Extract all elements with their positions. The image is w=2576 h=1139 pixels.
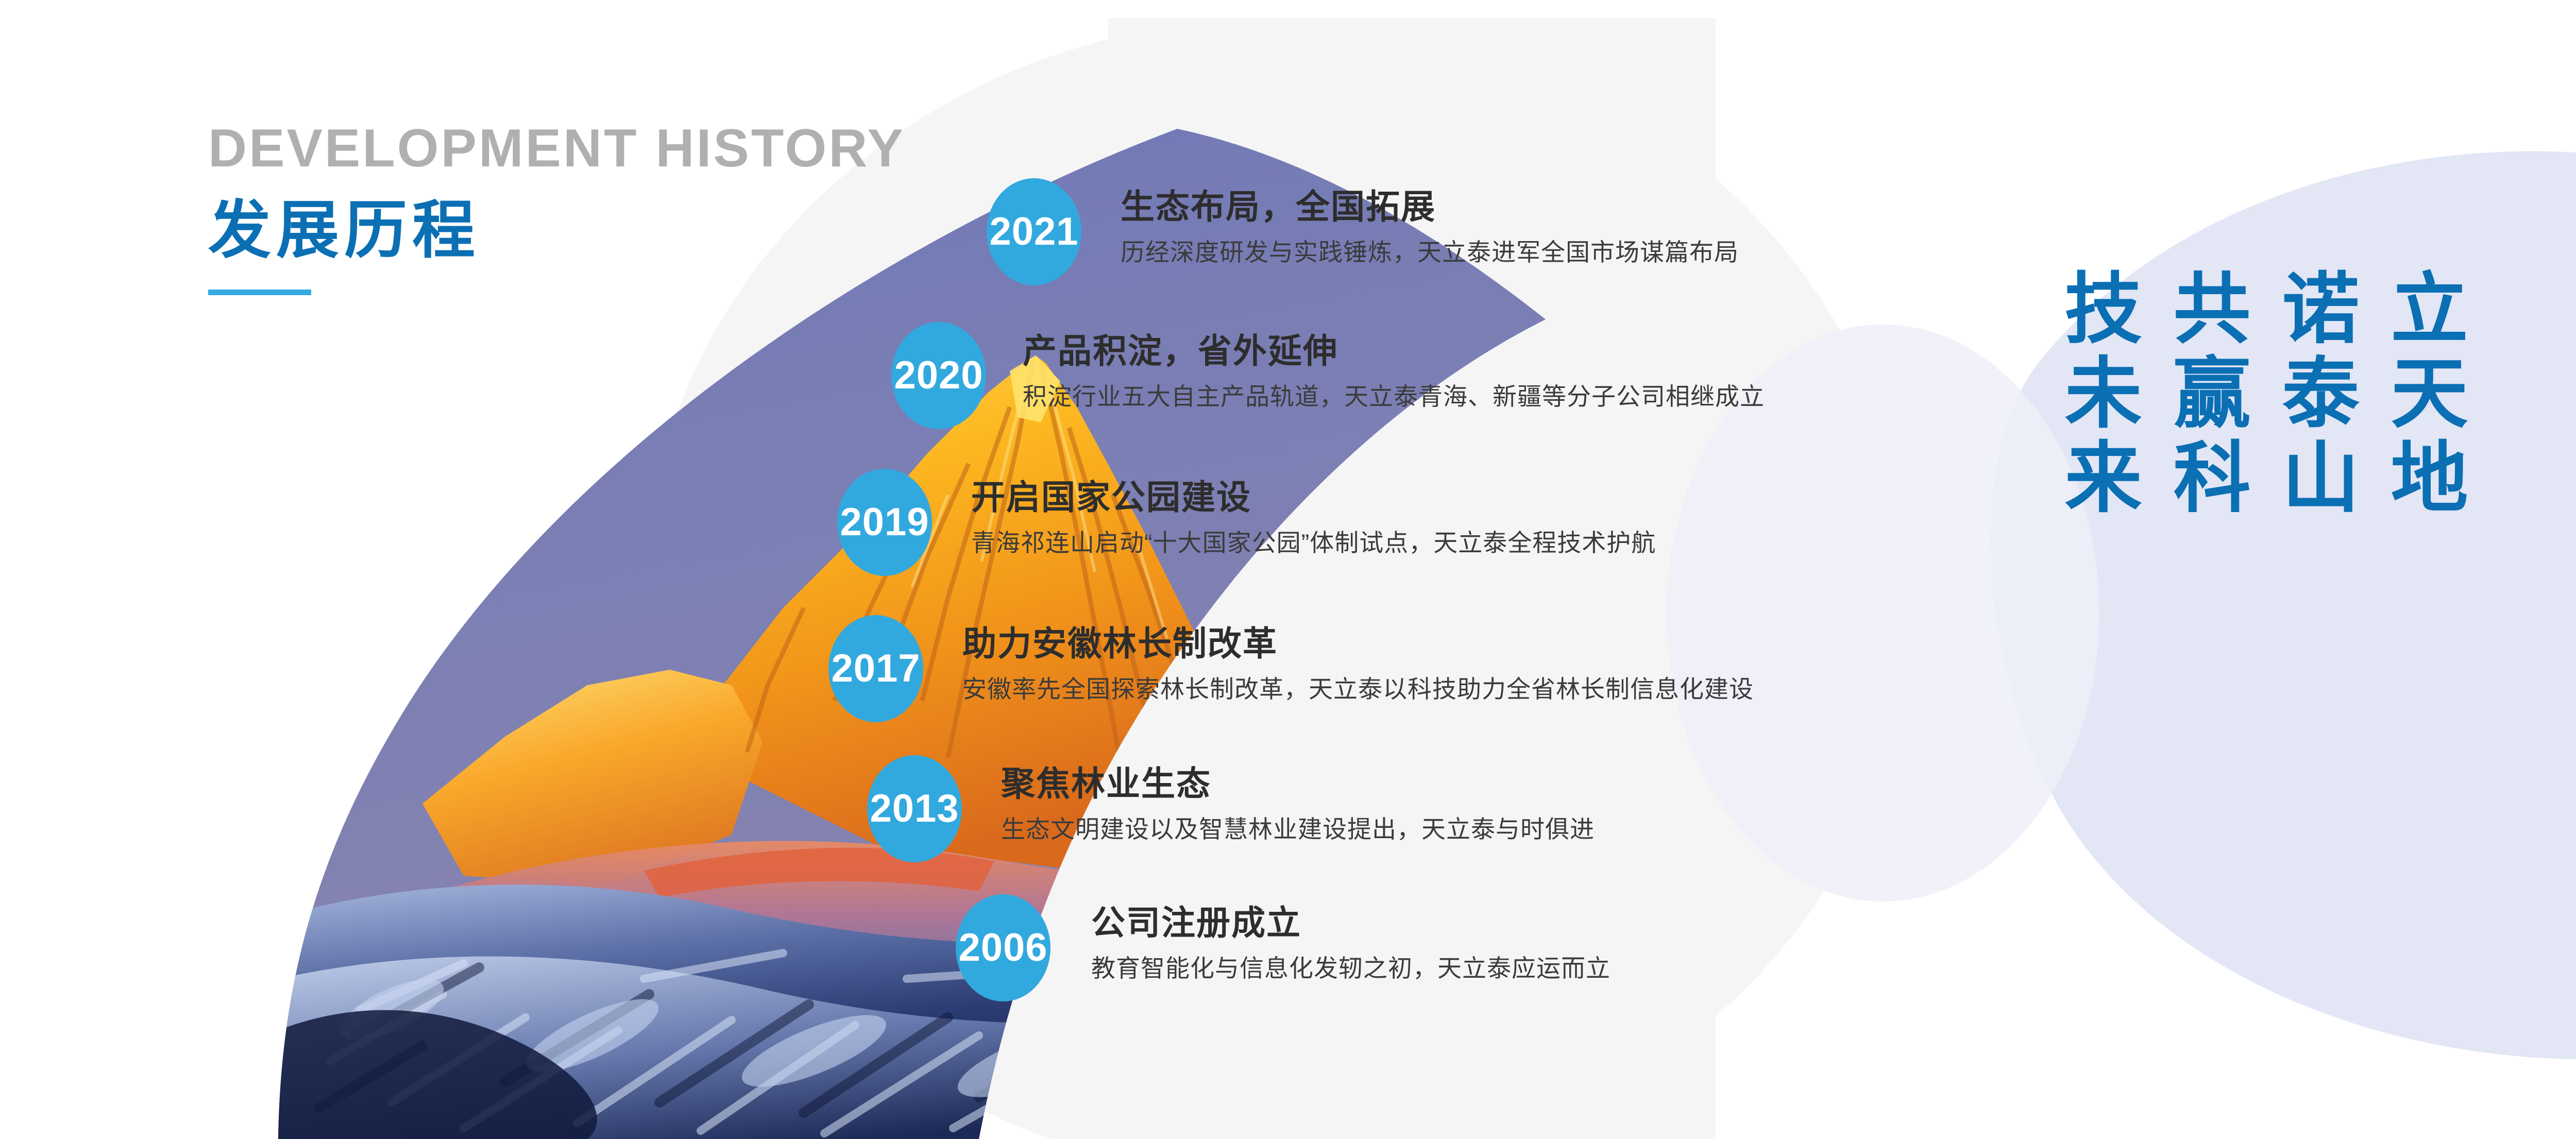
year-label: 2017 [831,649,920,688]
timeline-text-2006: 公司注册成立 教育智能化与信息化发轫之初，天立泰应运而立 [1091,906,1611,980]
slogan-column-3: 共赢科 [2164,268,2246,521]
year-badge-2006[interactable]: 2006 [956,894,1050,1001]
timeline-desc: 教育智能化与信息化发轫之初，天立泰应运而立 [1091,956,1611,980]
timeline-text-2019: 开启国家公园建设 青海祁连山启动“十大国家公园”体制试点，天立泰全程技术护航 [971,480,1656,555]
timeline-title: 公司注册成立 [1091,906,1611,940]
year-badge-2017[interactable]: 2017 [828,615,923,722]
year-label: 2020 [894,356,983,395]
timeline-title: 聚焦林业生态 [1001,767,1595,801]
timeline-title: 生态布局，全国拓展 [1121,190,1739,224]
year-label: 2006 [958,928,1047,967]
year-label: 2021 [989,212,1078,251]
timeline-desc: 积淀行业五大自主产品轨道，天立泰青海、新疆等分子公司相继成立 [1023,384,1765,409]
timeline-text-2017: 助力安徽林长制改革 安徽率先全国探索林长制改革，天立泰以科技助力全省林长制信息化… [962,626,1754,701]
year-label: 2013 [870,789,959,828]
timeline-desc: 历经深度研发与实践锤炼，天立泰进军全国市场谋篇布局 [1121,240,1739,264]
year-badge-2020[interactable]: 2020 [891,322,986,429]
slogan-column-1: 立天地 [2382,268,2464,521]
timeline-desc: 青海祁连山启动“十大国家公园”体制试点，天立泰全程技术护航 [971,531,1656,555]
timeline-title: 产品积淀，省外延伸 [1023,334,1765,368]
timeline-desc: 生态文明建设以及智慧林业建设提出，天立泰与时俱进 [1001,817,1595,841]
vertical-slogan: 立天地 诺泰山 共赢科 技未来 [2056,268,2464,521]
slogan-column-4: 技未来 [2056,268,2138,521]
timeline-title: 开启国家公园建设 [971,480,1656,514]
year-label: 2019 [840,503,929,542]
year-badge-2013[interactable]: 2013 [867,755,962,862]
timeline-text-2021: 生态布局，全国拓展 历经深度研发与实践锤炼，天立泰进军全国市场谋篇布局 [1121,190,1739,264]
timeline-desc: 安徽率先全国探索林长制改革，天立泰以科技助力全省林长制信息化建设 [962,677,1754,701]
year-badge-2019[interactable]: 2019 [837,469,932,576]
timeline: 2021 生态布局，全国拓展 历经深度研发与实践锤炼，天立泰进军全国市场谋篇布局… [0,0,2576,1139]
year-badge-2021[interactable]: 2021 [987,178,1081,285]
timeline-text-2020: 产品积淀，省外延伸 积淀行业五大自主产品轨道，天立泰青海、新疆等分子公司相继成立 [1023,334,1765,409]
timeline-text-2013: 聚焦林业生态 生态文明建设以及智慧林业建设提出，天立泰与时俱进 [1001,767,1595,841]
slide-canvas: DEVELOPMENT HISTORY 发展历程 2021 生态布局，全国拓展 … [0,0,2576,1139]
timeline-title: 助力安徽林长制改革 [962,626,1754,660]
slogan-column-2: 诺泰山 [2273,268,2355,521]
